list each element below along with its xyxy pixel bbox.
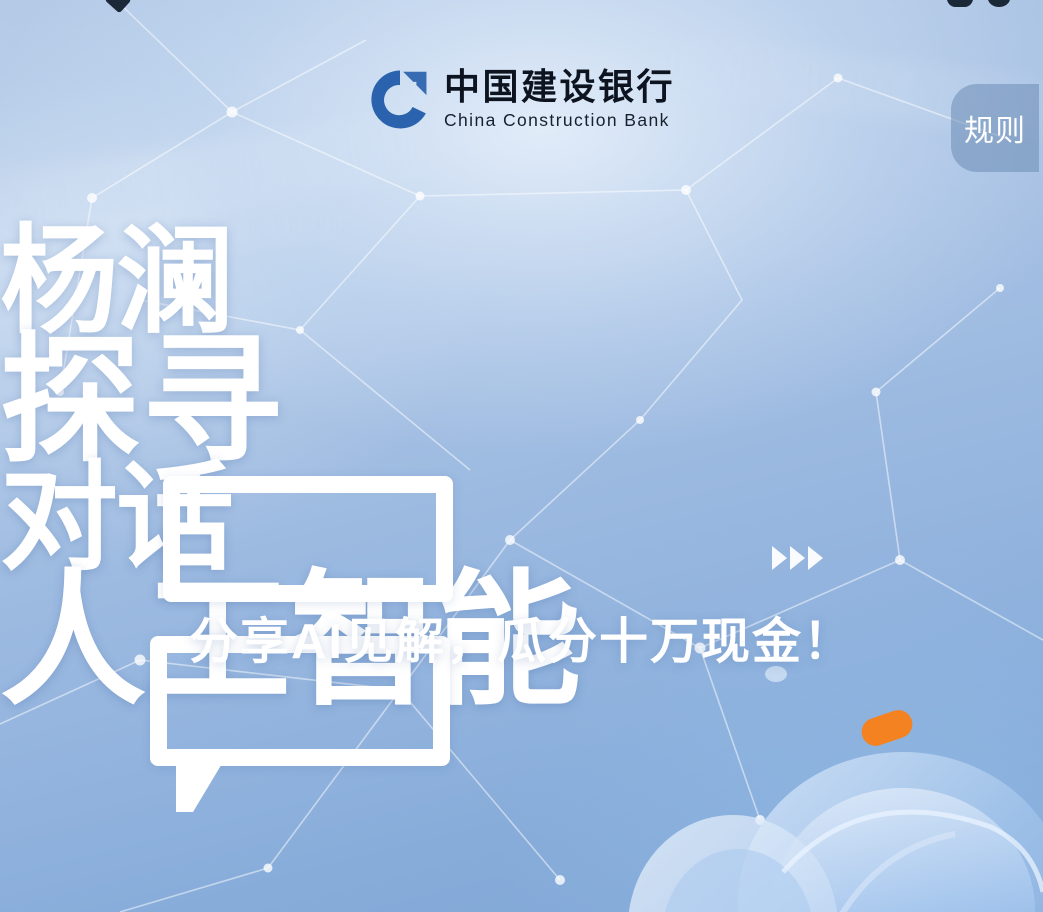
ccb-name-en: China Construction Bank bbox=[444, 112, 675, 130]
ccb-logo: 中国建设银行 China Construction Bank bbox=[368, 68, 675, 131]
headline-word-duihua: 对话 bbox=[0, 465, 1043, 574]
ccb-logo-mark bbox=[368, 68, 431, 131]
back-arrow-icon[interactable] bbox=[105, 0, 132, 13]
target-icon[interactable] bbox=[988, 0, 1010, 7]
headline-word-tanxun: 探寻 bbox=[0, 337, 1043, 466]
chevron-marks-icon bbox=[772, 546, 823, 570]
speech-bubble-tail-notch bbox=[193, 762, 223, 796]
headline-word-yanglan: 杨澜 bbox=[0, 228, 1043, 337]
rules-button[interactable]: 规则 bbox=[951, 84, 1039, 172]
system-chrome-strip bbox=[0, 0, 1043, 14]
more-options-icon[interactable] bbox=[947, 0, 973, 7]
rules-button-label: 规则 bbox=[964, 106, 1026, 150]
ccb-name-cn: 中国建设银行 bbox=[444, 69, 675, 105]
ccb-logo-text: 中国建设银行 China Construction Bank bbox=[444, 69, 675, 130]
campaign-banner: 中国建设银行 China Construction Bank 规则 杨澜 探寻 … bbox=[0, 0, 1043, 912]
headline-group: 杨澜 探寻 对话 人工智能 bbox=[0, 228, 1043, 588]
subtitle-text: 分享AI见解，瓜分十万现金！ bbox=[0, 602, 1043, 673]
speech-bubble-outline-1 bbox=[163, 476, 453, 602]
